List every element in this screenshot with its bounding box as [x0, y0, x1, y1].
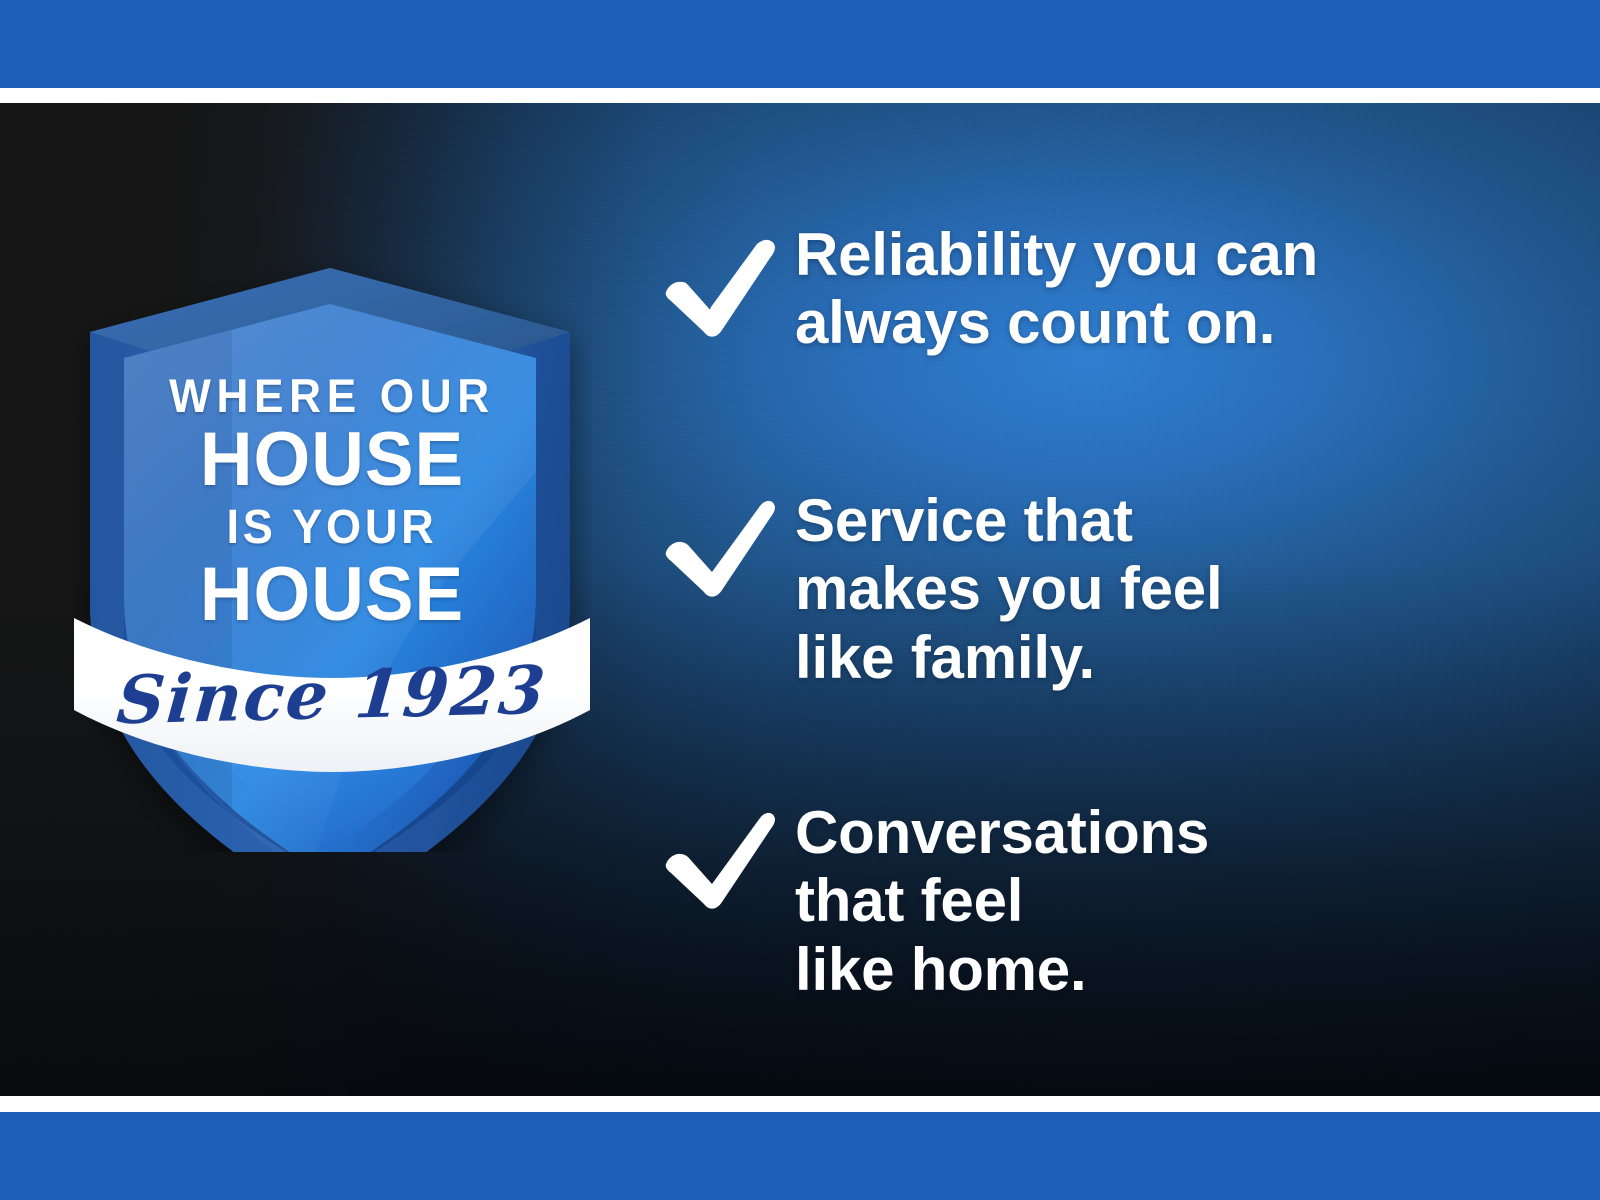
benefit-item-3: Conversations that feel like home. — [660, 793, 1600, 1004]
benefit-text-1: Reliability you can always count on. — [795, 221, 1318, 358]
benefit-text-3: Conversations that feel like home. — [795, 793, 1209, 1004]
benefits-list: Reliability you can always count on. Ser… — [660, 103, 1600, 1096]
check-icon — [660, 481, 795, 607]
promo-banner: WHERE OUR HOUSE IS YOUR HOUSE Since 1923… — [0, 0, 1600, 1200]
bottom-blue-bar — [0, 1112, 1600, 1200]
benefit-text-2: Service that makes you feel like family. — [795, 481, 1222, 692]
top-blue-bar — [0, 0, 1600, 88]
check-icon — [660, 221, 795, 347]
top-white-rule — [0, 88, 1600, 103]
check-icon — [660, 793, 795, 919]
shield-badge: WHERE OUR HOUSE IS YOUR HOUSE Since 1923 — [72, 172, 592, 852]
benefit-item-2: Service that makes you feel like family. — [660, 481, 1600, 692]
bottom-white-rule — [0, 1096, 1600, 1112]
benefit-item-1: Reliability you can always count on. — [660, 221, 1600, 358]
